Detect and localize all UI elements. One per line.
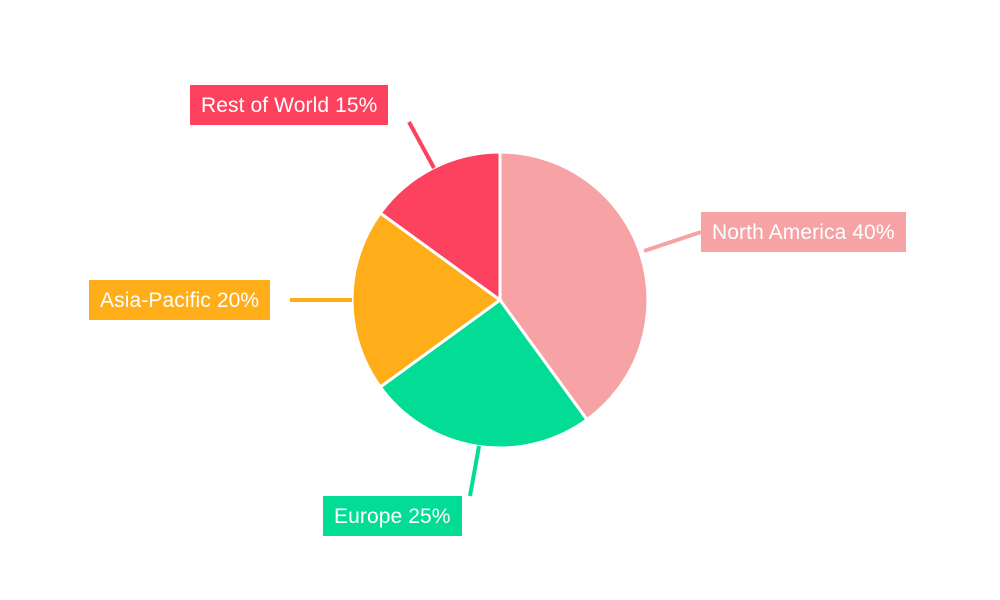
leader-line-north-america bbox=[644, 232, 701, 251]
pie-label-europe-text: Europe 25% bbox=[334, 506, 451, 527]
pie-label-asia-pacific-text: Asia-Pacific 20% bbox=[100, 290, 259, 311]
pie-label-north-america-text: North America 40% bbox=[712, 222, 895, 243]
leader-line-europe bbox=[470, 446, 479, 496]
pie-chart-figure: North America 40% Europe 25% Asia-Pacifi… bbox=[0, 0, 1000, 600]
pie-label-north-america[interactable]: North America 40% bbox=[701, 212, 906, 252]
pie-label-rest-of-world-text: Rest of World 15% bbox=[201, 95, 377, 116]
pie-wedges bbox=[352, 152, 648, 448]
pie-label-rest-of-world[interactable]: Rest of World 15% bbox=[190, 85, 388, 125]
pie-label-europe[interactable]: Europe 25% bbox=[323, 496, 462, 536]
leader-line-rest-of-world bbox=[409, 122, 434, 168]
pie-label-asia-pacific[interactable]: Asia-Pacific 20% bbox=[89, 280, 270, 320]
